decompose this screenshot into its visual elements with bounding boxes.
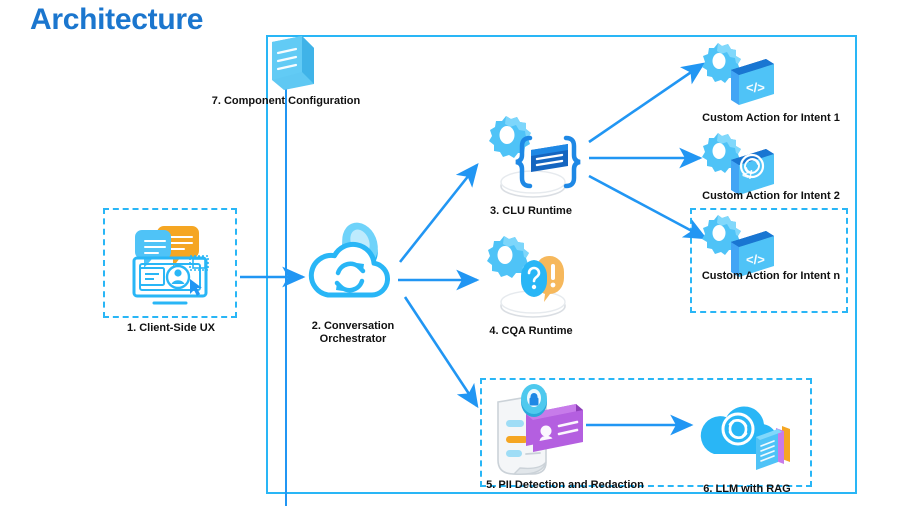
llm-with-rag-label: 6. LLM with RAG bbox=[684, 483, 810, 496]
custom-action-intent-n-label: Custom Action for Intent n bbox=[688, 270, 854, 283]
conversation-orchestrator-label: 2. Conversation Orchestrator bbox=[285, 320, 421, 347]
pii-detection-redaction-label: 5. PII Detection and Redaction bbox=[462, 479, 668, 492]
svg-text:</>: </> bbox=[746, 80, 765, 95]
conversation-orchestrator-node[interactable] bbox=[300, 223, 404, 305]
component-configuration-node[interactable] bbox=[262, 32, 324, 94]
custom-action-intent-1-node[interactable]: </> bbox=[698, 40, 788, 110]
cqa-runtime-node[interactable] bbox=[476, 228, 584, 320]
custom-action-intent-2-label: Custom Action for Intent 2 bbox=[688, 190, 854, 203]
svg-text:</>: </> bbox=[746, 252, 765, 267]
llm-with-rag-node[interactable] bbox=[694, 396, 800, 474]
monitor-chat-icon bbox=[118, 222, 222, 308]
custom-action-intent-1-label: Custom Action for Intent 1 bbox=[688, 112, 854, 125]
cloud-openai-books-icon bbox=[694, 396, 800, 474]
clu-runtime-node[interactable] bbox=[476, 108, 584, 200]
gear-code-card-icon: </> bbox=[698, 40, 788, 110]
page-title: Architecture bbox=[30, 2, 203, 38]
component-configuration-label: 7. Component Configuration bbox=[176, 95, 396, 108]
architecture-diagram: Architecture bbox=[0, 0, 900, 506]
gear-chat-bubbles-icon bbox=[476, 228, 584, 320]
cloud-sync-icon bbox=[300, 223, 404, 305]
client-side-ux-node[interactable] bbox=[118, 222, 222, 308]
pii-detection-redaction-node[interactable] bbox=[484, 384, 594, 484]
cqa-runtime-label: 4. CQA Runtime bbox=[466, 325, 596, 338]
clu-runtime-label: 3. CLU Runtime bbox=[466, 205, 596, 218]
gear-braces-icon bbox=[476, 108, 584, 200]
document-icon bbox=[262, 32, 324, 94]
client-side-ux-label: 1. Client-Side UX bbox=[100, 322, 242, 335]
id-card-lock-icon bbox=[484, 384, 594, 484]
